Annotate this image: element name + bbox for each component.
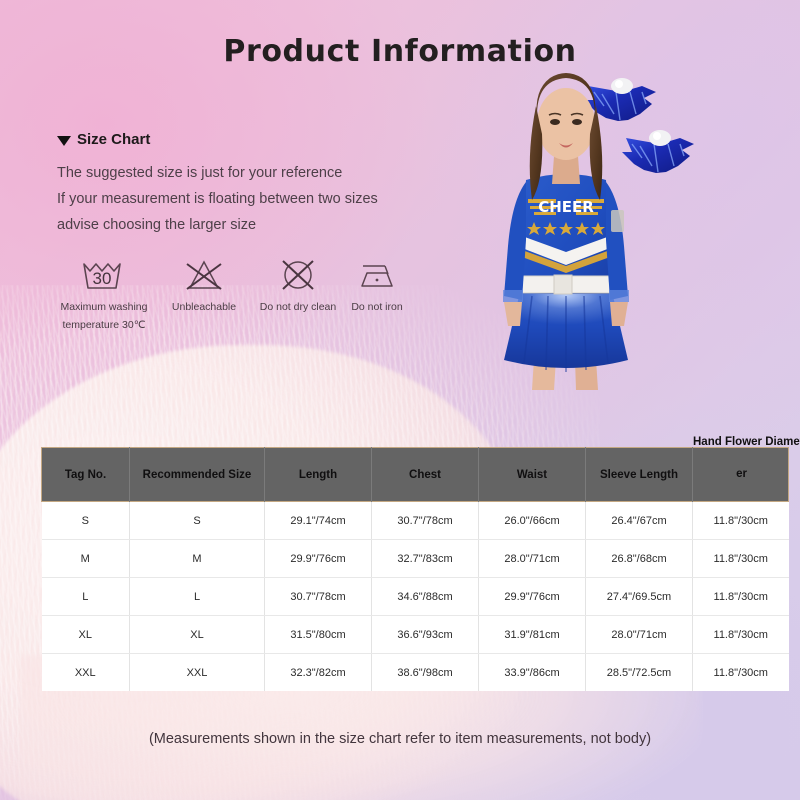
- cell-tag-no: XXL: [42, 654, 130, 692]
- cell-tag-no: L: [42, 578, 130, 616]
- column-header-recommended-size: Recommended Size: [130, 448, 265, 502]
- cell-tag-no: S: [42, 502, 130, 540]
- care-label-iron: Do not iron: [351, 301, 402, 313]
- no-iron-icon: [341, 255, 413, 297]
- care-item-dry-clean: Do not dry clean: [252, 255, 344, 315]
- no-dry-clean-icon: [252, 255, 344, 297]
- no-bleach-icon: [161, 255, 247, 297]
- cell-chest: 38.6"/98cm: [372, 654, 479, 692]
- table-row: M M 29.9"/76cm 32.7"/83cm 28.0"/71cm 26.…: [42, 540, 789, 578]
- care-item-iron: Do not iron: [341, 255, 413, 315]
- table-row: XXL XXL 32.3"/82cm 38.6"/98cm 33.9"/86cm…: [42, 654, 789, 692]
- triangle-down-icon: [57, 136, 71, 146]
- table-row: XL XL 31.5"/80cm 36.6"/93cm 31.9"/81cm 2…: [42, 616, 789, 654]
- cell-tag-no: XL: [42, 616, 130, 654]
- size-chart-table: Tag No. Recommended Size Length Chest Wa…: [41, 447, 789, 691]
- cell-waist: 28.0"/71cm: [479, 540, 586, 578]
- column-header-waist: Waist: [479, 448, 586, 502]
- care-label-bleach: Unbleachable: [172, 301, 236, 313]
- column-header-hand-flower-diameter: Hand Flower Diamet er: [693, 448, 789, 502]
- uniform-cheer-text: CHEER: [538, 198, 594, 216]
- cell-chest: 34.6"/88cm: [372, 578, 479, 616]
- cell-length: 30.7"/78cm: [265, 578, 372, 616]
- pompom-lower: [622, 130, 694, 173]
- wash-tub-30-icon: 30: [56, 255, 152, 297]
- table-row: L L 30.7"/78cm 34.6"/88cm 29.9"/76cm 27.…: [42, 578, 789, 616]
- cell-sleeve-length: 26.4"/67cm: [586, 502, 693, 540]
- cell-length: 29.1"/74cm: [265, 502, 372, 540]
- care-label-washing: Maximum washing temperature 30℃: [61, 301, 148, 331]
- uniform-cheer-emblem: CHEER: [527, 198, 605, 235]
- model-hair-left: [530, 106, 543, 200]
- pompom-upper: [584, 78, 656, 121]
- skirt: [504, 292, 628, 368]
- column-header-tag-no: Tag No.: [42, 448, 130, 502]
- cell-waist: 33.9"/86cm: [479, 654, 586, 692]
- cell-length: 31.5"/80cm: [265, 616, 372, 654]
- cheerleader-uniform-model-image: CHEER: [470, 60, 760, 390]
- cell-waist: 26.0"/66cm: [479, 502, 586, 540]
- care-label-dry-clean: Do not dry clean: [260, 301, 336, 313]
- wash-temperature-value: 30: [93, 269, 112, 288]
- cell-hand-flower-diameter: 11.8"/30cm: [693, 540, 789, 578]
- table-row: S S 29.1"/74cm 30.7"/78cm 26.0"/66cm 26.…: [42, 502, 789, 540]
- measurements-disclaimer: (Measurements shown in the size chart re…: [0, 731, 800, 747]
- model-face: [537, 88, 595, 160]
- uniform-stars: [527, 222, 605, 235]
- cell-hand-flower-diameter: 11.8"/30cm: [693, 616, 789, 654]
- cell-chest: 32.7"/83cm: [372, 540, 479, 578]
- cell-hand-flower-diameter: 11.8"/30cm: [693, 654, 789, 692]
- cell-sleeve-length: 28.0"/71cm: [586, 616, 693, 654]
- cell-hand-flower-diameter: 11.8"/30cm: [693, 502, 789, 540]
- cell-sleeve-length: 26.8"/68cm: [586, 540, 693, 578]
- cell-sleeve-length: 27.4"/69.5cm: [586, 578, 693, 616]
- cell-recommended-size: XL: [130, 616, 265, 654]
- care-instructions-row: 30 Maximum washing temperature 30℃ Unble…: [56, 255, 406, 335]
- column-header-chest: Chest: [372, 448, 479, 502]
- cell-waist: 31.9"/81cm: [479, 616, 586, 654]
- cell-waist: 29.9"/76cm: [479, 578, 586, 616]
- page-title: Product Information: [0, 34, 800, 69]
- cell-tag-no: M: [42, 540, 130, 578]
- hand-flower-header-line2: er: [693, 466, 790, 482]
- size-chart-notes: The suggested size is just for your refe…: [57, 160, 378, 238]
- cell-recommended-size: M: [130, 540, 265, 578]
- fur-wisps: [0, 315, 420, 465]
- size-chart-heading-label: Size Chart: [77, 131, 150, 148]
- cell-hand-flower-diameter: 11.8"/30cm: [693, 578, 789, 616]
- table-header-row: Tag No. Recommended Size Length Chest Wa…: [42, 448, 789, 502]
- product-information-page: Product Information Size Chart The sugge…: [0, 0, 800, 800]
- size-chart-note-2: If your measurement is floating between …: [57, 186, 378, 212]
- size-chart-note-3: advise choosing the larger size: [57, 212, 378, 238]
- cell-recommended-size: L: [130, 578, 265, 616]
- cell-recommended-size: XXL: [130, 654, 265, 692]
- cell-length: 29.9"/76cm: [265, 540, 372, 578]
- column-header-sleeve-length: Sleeve Length: [586, 448, 693, 502]
- care-item-bleach: Unbleachable: [161, 255, 247, 315]
- care-item-washing: 30 Maximum washing temperature 30℃: [56, 255, 152, 333]
- uniform-top: [520, 174, 612, 294]
- cell-length: 32.3"/82cm: [265, 654, 372, 692]
- hand-flower-header-line1: Hand Flower Diamet: [693, 436, 800, 448]
- size-chart-note-1: The suggested size is just for your refe…: [57, 160, 378, 186]
- cell-chest: 30.7"/78cm: [372, 502, 479, 540]
- model-hair-right: [590, 106, 603, 200]
- size-chart-heading: Size Chart: [57, 131, 150, 148]
- column-header-length: Length: [265, 448, 372, 502]
- cell-recommended-size: S: [130, 502, 265, 540]
- table-body: S S 29.1"/74cm 30.7"/78cm 26.0"/66cm 26.…: [42, 502, 789, 692]
- table-header: Tag No. Recommended Size Length Chest Wa…: [42, 448, 789, 502]
- cell-sleeve-length: 28.5"/72.5cm: [586, 654, 693, 692]
- cell-chest: 36.6"/93cm: [372, 616, 479, 654]
